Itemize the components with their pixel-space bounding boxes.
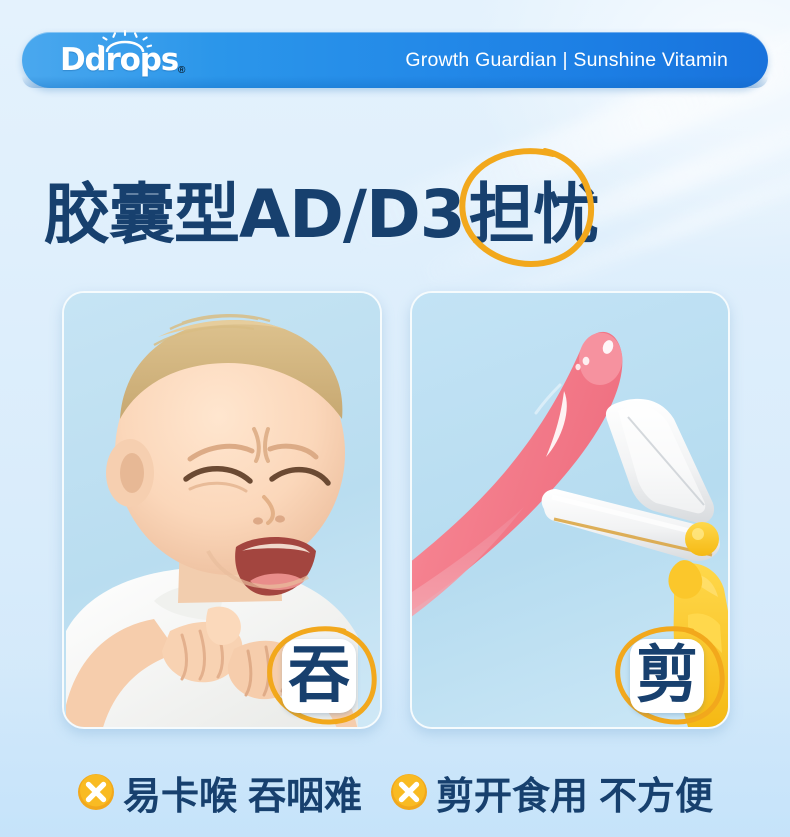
caption-text-part2: 吞咽难 [248, 774, 362, 818]
card-cutting[interactable]: 剪 [410, 291, 730, 729]
caption-text-part1: 易卡喉 [123, 774, 237, 818]
x-circle-icon [77, 773, 115, 811]
caption-row: 易卡喉吞咽难 剪开食用不方便 [0, 760, 790, 824]
badge-chip: 剪 [630, 639, 704, 713]
page-title: 胶囊型AD/D3 担忧 [0, 160, 790, 270]
page-background: Ddrops® Growth Guardian | Sunshine Vitam… [0, 0, 790, 837]
badge-cut: 剪 [624, 633, 710, 719]
brand-logo[interactable]: Ddrops® [60, 45, 185, 76]
caption-cutting: 剪开食用不方便 [390, 765, 713, 820]
sun-rays-icon [98, 30, 152, 52]
caption-choking: 易卡喉吞咽难 [77, 765, 362, 820]
card-choking[interactable]: 吞 [62, 291, 382, 729]
header-bar: Ddrops® Growth Guardian | Sunshine Vitam… [22, 32, 768, 88]
header-tagline: Growth Guardian | Sunshine Vitamin [405, 49, 728, 72]
problem-cards-row: 吞 [62, 291, 730, 725]
title-prefix: 胶囊型AD/D3 [44, 182, 465, 248]
title-highlight-text: 担忧 [469, 176, 599, 253]
title-highlight-wrap: 担忧 [465, 182, 603, 248]
badge-character: 吞 [288, 644, 350, 706]
badge-chip: 吞 [282, 639, 356, 713]
badge-character: 剪 [636, 644, 698, 706]
badge-swallow: 吞 [276, 633, 362, 719]
x-circle-icon [390, 773, 428, 811]
brand-trademark: ® [178, 65, 185, 76]
caption-text-part1: 剪开食用 [436, 774, 588, 818]
caption-text-part2: 不方便 [599, 774, 713, 818]
